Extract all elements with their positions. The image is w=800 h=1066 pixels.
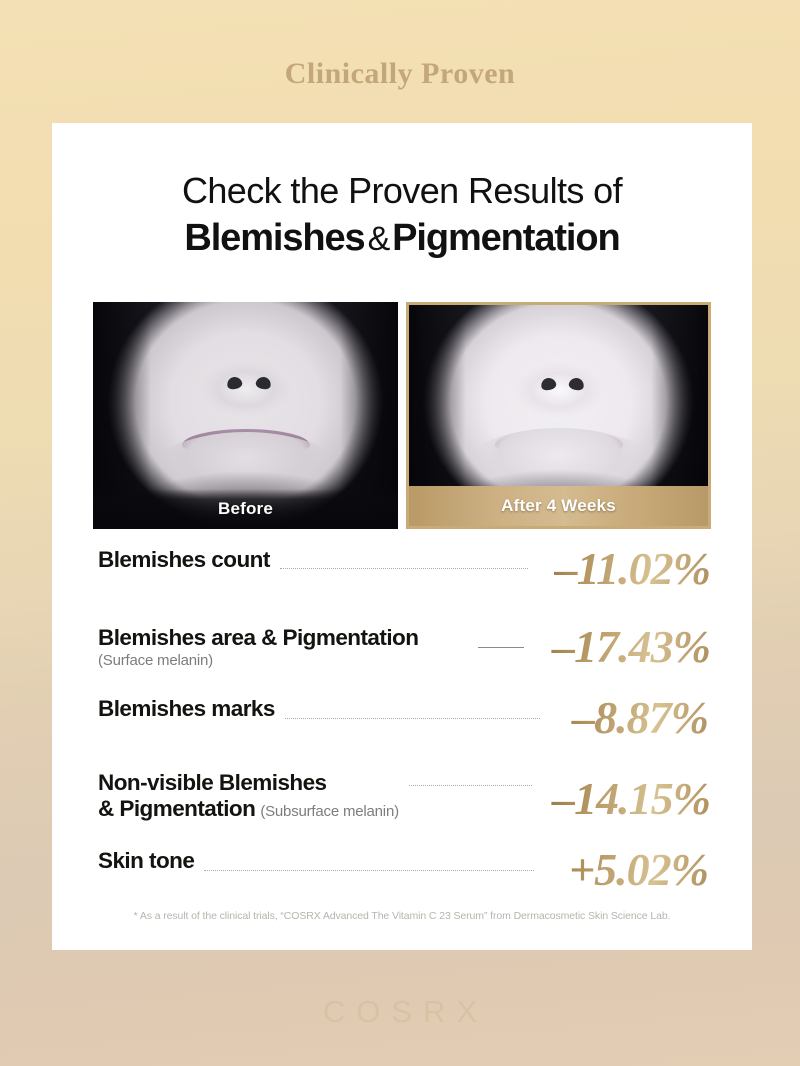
nostril-right-shape xyxy=(568,376,585,391)
result-row-blemishes-marks: Blemishes marks –8.87% xyxy=(98,696,710,740)
result-value: –14.15% xyxy=(542,777,710,821)
result-row-skin-tone: Skin tone +5.02% xyxy=(98,848,710,892)
brand-logo: COSRX xyxy=(0,994,800,1030)
headline-pigmentation: Pigmentation xyxy=(392,217,619,259)
result-label: Blemishes count xyxy=(98,547,270,573)
results-card: Check the Proven Results of Blemishes&Pi… xyxy=(52,123,752,950)
before-label: Before xyxy=(93,489,398,529)
result-label-group: Blemishes area & Pigmentation (Surface m… xyxy=(98,625,418,671)
upper-lip-shape xyxy=(182,429,310,451)
before-after-comparison: Before After 4 Weeks xyxy=(93,302,711,529)
result-sublabel: (Subsurface melanin) xyxy=(255,803,399,820)
result-label-line-2-text: & Pigmentation xyxy=(98,796,255,821)
lower-lip-shape xyxy=(501,449,617,477)
result-label: Blemishes marks xyxy=(98,696,275,722)
result-value: +5.02% xyxy=(544,848,710,892)
leader-line-dotted xyxy=(280,568,528,569)
page-title: Check the Proven Results of Blemishes&Pi… xyxy=(52,170,752,261)
lips-shape xyxy=(182,429,310,479)
headline-blemishes: Blemishes xyxy=(184,217,364,259)
leader-line-dotted xyxy=(409,785,532,786)
upper-lip-shape xyxy=(495,429,623,451)
result-label: Blemishes area & Pigmentation xyxy=(98,625,418,651)
after-photo: After 4 Weeks xyxy=(406,302,711,529)
headline-ampersand: & xyxy=(365,220,393,258)
before-photo: Before xyxy=(93,302,398,529)
headline-line-1: Check the Proven Results of xyxy=(52,170,752,212)
leader-line-solid xyxy=(478,647,524,648)
lower-lip-shape xyxy=(188,449,304,477)
kicker-text: Clinically Proven xyxy=(0,57,800,91)
result-sublabel: (Surface melanin) xyxy=(98,651,418,671)
after-label: After 4 Weeks xyxy=(409,486,708,526)
headline-line-2: Blemishes&Pigmentation xyxy=(52,216,752,261)
result-row-non-visible-blemishes: Non-visible Blemishes & Pigmentation(Sub… xyxy=(98,770,710,822)
leader-line-dotted xyxy=(204,870,534,871)
lips-shape xyxy=(495,429,623,479)
result-row-blemishes-area: Blemishes area & Pigmentation (Surface m… xyxy=(98,625,710,671)
nostril-right-shape xyxy=(255,375,272,390)
nostril-left-shape xyxy=(226,375,243,390)
result-label-line-2: & Pigmentation(Subsurface melanin) xyxy=(98,796,399,822)
leader-line-dotted xyxy=(285,718,540,719)
result-row-blemishes-count: Blemishes count –11.02% xyxy=(98,547,710,591)
nose-shape xyxy=(200,361,292,417)
result-label: Skin tone xyxy=(98,848,194,874)
result-label-group: Blemishes marks xyxy=(98,696,275,722)
result-label-group: Non-visible Blemishes & Pigmentation(Sub… xyxy=(98,770,399,822)
results-list: Blemishes count –11.02% Blemishes area &… xyxy=(98,547,710,892)
result-label-group: Blemishes count xyxy=(98,547,270,573)
result-value: –8.87% xyxy=(550,696,710,740)
result-value: –11.02% xyxy=(538,547,710,591)
result-label-group: Skin tone xyxy=(98,848,194,874)
nostril-left-shape xyxy=(539,376,556,391)
leader-container xyxy=(418,647,534,648)
result-value: –17.43% xyxy=(534,625,710,669)
nose-shape xyxy=(513,362,605,418)
footnote-text: * As a result of the clinical trials, “C… xyxy=(72,910,732,922)
result-label-line-1: Non-visible Blemishes xyxy=(98,770,399,796)
